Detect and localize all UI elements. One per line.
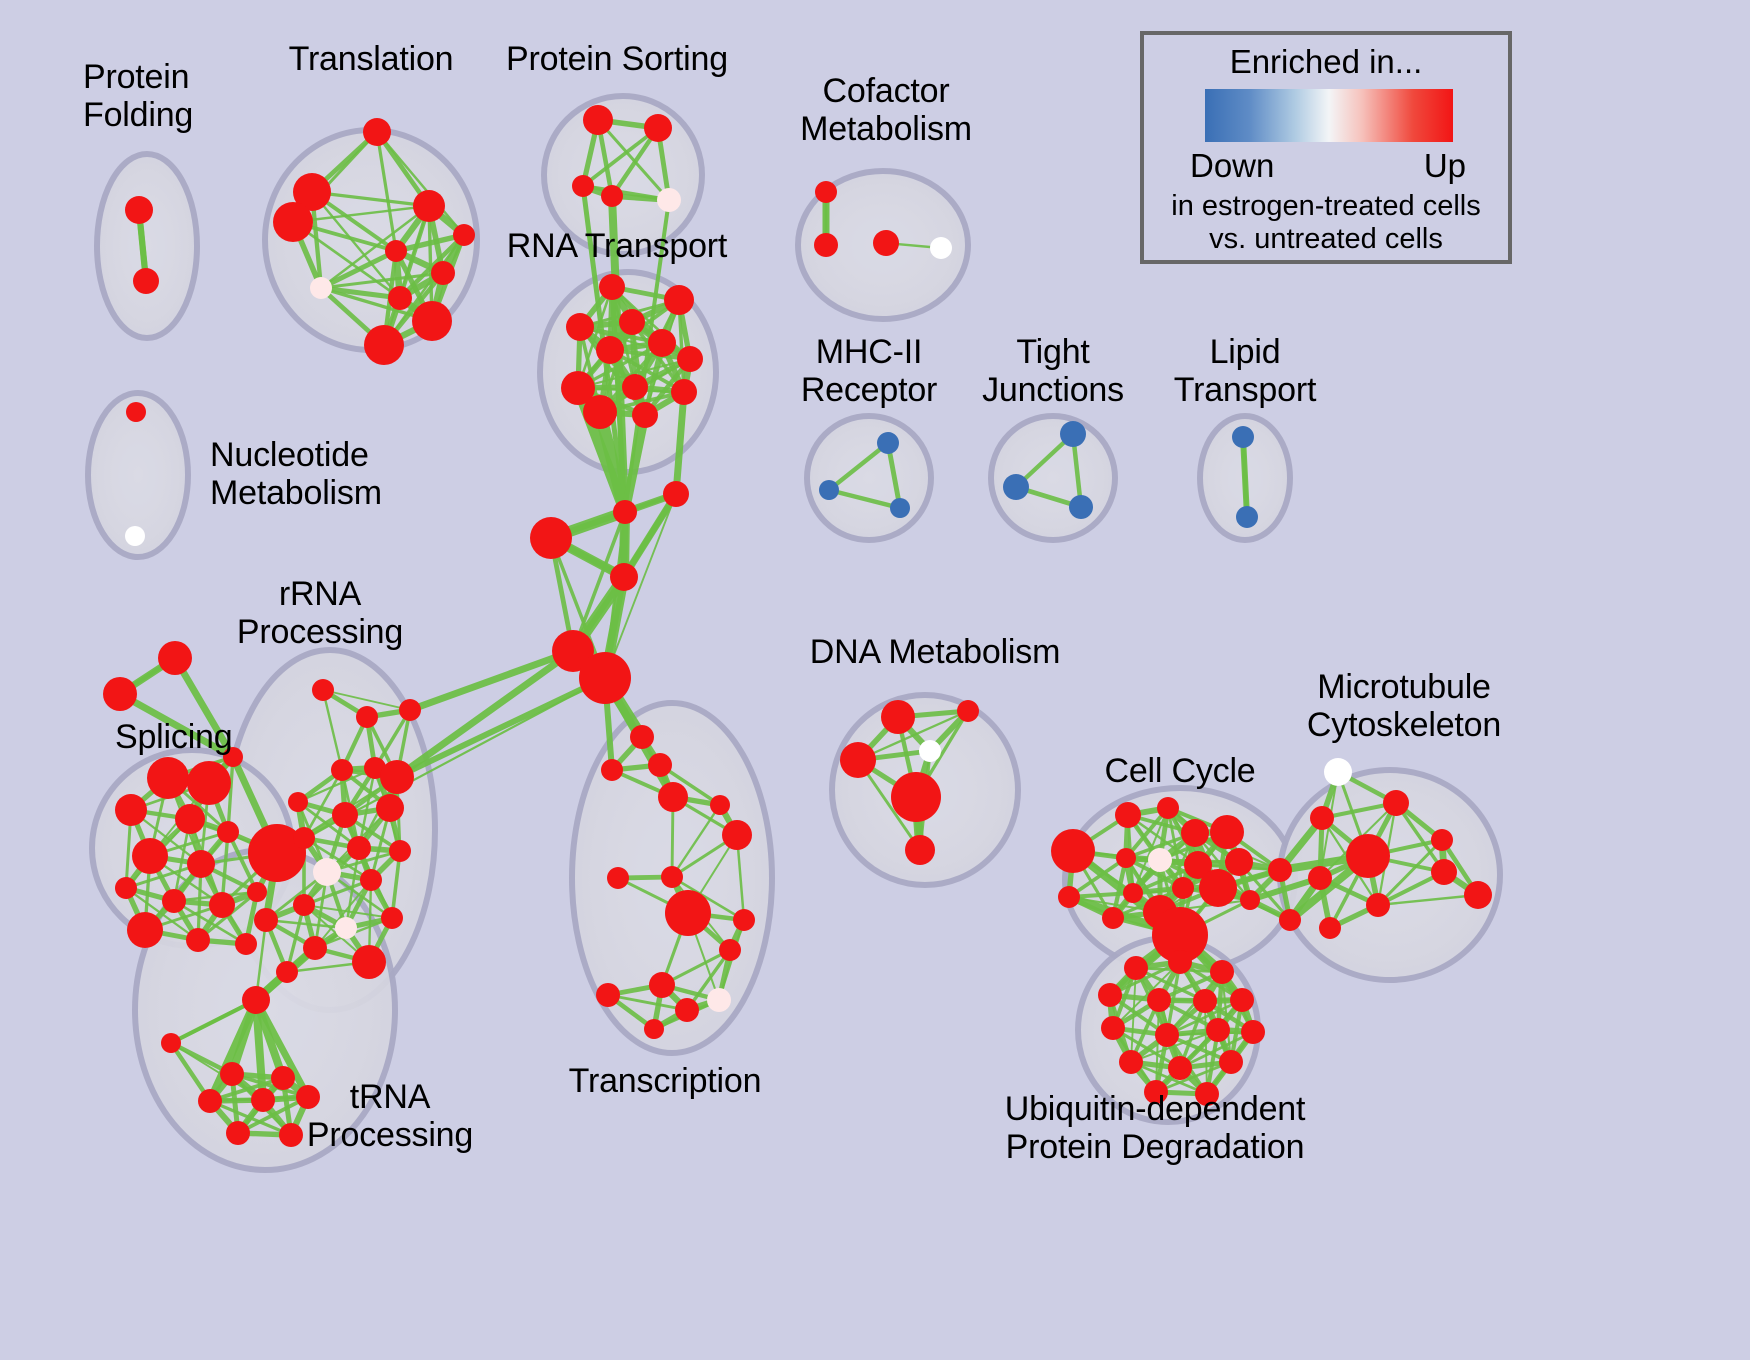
network-node[interactable] — [209, 892, 235, 918]
cluster-label-protein-folding: ProteinFolding — [83, 58, 193, 134]
network-node[interactable] — [158, 641, 192, 675]
legend-subtitle-line-1: in estrogen-treated cells — [1144, 190, 1508, 223]
network-node[interactable] — [677, 346, 703, 372]
network-node[interactable] — [310, 277, 332, 299]
cluster-label-cofactor-metabolism: CofactorMetabolism — [800, 72, 972, 148]
network-node[interactable] — [905, 835, 935, 865]
network-node[interactable] — [644, 1019, 664, 1039]
network-node[interactable] — [217, 821, 239, 843]
network-node[interactable] — [293, 827, 315, 849]
network-node[interactable] — [1157, 797, 1179, 819]
network-node[interactable] — [127, 912, 163, 948]
network-edge — [1243, 437, 1247, 517]
network-node[interactable] — [1058, 886, 1080, 908]
network-node[interactable] — [175, 804, 205, 834]
network-node[interactable] — [103, 677, 137, 711]
network-node[interactable] — [1232, 426, 1254, 448]
network-node[interactable] — [251, 1088, 275, 1112]
network-node[interactable] — [596, 336, 624, 364]
network-node[interactable] — [1148, 848, 1172, 872]
cluster-label-lipid-transport: LipidTransport — [1174, 333, 1316, 409]
network-node[interactable] — [412, 301, 452, 341]
network-node[interactable] — [389, 840, 411, 862]
cluster-label-cell-cycle: Cell Cycle — [1104, 752, 1255, 790]
network-node[interactable] — [1319, 917, 1341, 939]
network-node[interactable] — [115, 794, 147, 826]
network-node[interactable] — [147, 757, 189, 799]
network-node[interactable] — [1168, 1056, 1192, 1080]
network-node[interactable] — [125, 526, 145, 546]
network-node[interactable] — [242, 986, 270, 1014]
network-node[interactable] — [1383, 790, 1409, 816]
network-node[interactable] — [733, 909, 755, 931]
network-node[interactable] — [663, 481, 689, 507]
network-node[interactable] — [1225, 848, 1253, 876]
network-node[interactable] — [1236, 506, 1258, 528]
network-node[interactable] — [607, 867, 629, 889]
network-node[interactable] — [610, 563, 638, 591]
cluster-label-translation: Translation — [289, 40, 454, 78]
network-node[interactable] — [644, 114, 672, 142]
network-node[interactable] — [247, 882, 267, 902]
network-node[interactable] — [613, 500, 637, 524]
network-node[interactable] — [431, 261, 455, 285]
enrichment-map-figure: ProteinFoldingTranslationProtein Sorting… — [0, 0, 1750, 1360]
network-node[interactable] — [347, 836, 371, 860]
network-node[interactable] — [877, 432, 899, 454]
network-node[interactable] — [1431, 859, 1457, 885]
network-node[interactable] — [873, 230, 899, 256]
cluster-label-ubiquitin-degradation: Ubiquitin-dependentProtein Degradation — [1005, 1090, 1306, 1166]
network-node[interactable] — [1147, 988, 1171, 1012]
network-node[interactable] — [675, 998, 699, 1022]
network-node[interactable] — [1181, 819, 1209, 847]
network-node[interactable] — [413, 190, 445, 222]
network-node[interactable] — [919, 740, 941, 762]
network-node[interactable] — [1240, 890, 1260, 910]
network-node[interactable] — [601, 759, 623, 781]
cluster-label-trna-processing: tRNAProcessing — [307, 1078, 473, 1154]
cluster-label-rna-transport: RNA Transport — [507, 227, 727, 265]
network-node[interactable] — [657, 188, 681, 212]
network-node[interactable] — [622, 374, 648, 400]
cluster-label-splicing: Splicing — [115, 718, 232, 756]
network-node[interactable] — [1060, 421, 1086, 447]
cluster-label-rrna-processing: rRNAProcessing — [237, 575, 403, 651]
network-node[interactable] — [115, 877, 137, 899]
network-node[interactable] — [1206, 1018, 1230, 1042]
network-node[interactable] — [1119, 1050, 1143, 1074]
network-node[interactable] — [601, 185, 623, 207]
network-node[interactable] — [363, 118, 391, 146]
legend-title: Enriched in... — [1144, 43, 1508, 81]
network-node[interactable] — [658, 782, 688, 812]
network-node[interactable] — [596, 983, 620, 1007]
network-node[interactable] — [276, 961, 298, 983]
network-node[interactable] — [1193, 989, 1217, 1013]
network-node[interactable] — [161, 1033, 181, 1053]
network-node[interactable] — [579, 652, 631, 704]
network-node[interactable] — [1199, 869, 1237, 907]
network-node[interactable] — [1051, 829, 1095, 873]
network-node[interactable] — [1003, 474, 1029, 500]
network-node[interactable] — [332, 802, 358, 828]
network-node[interactable] — [722, 820, 752, 850]
network-node[interactable] — [132, 838, 168, 874]
network-node[interactable] — [890, 498, 910, 518]
network-node[interactable] — [1219, 1050, 1243, 1074]
network-node[interactable] — [303, 936, 327, 960]
network-node[interactable] — [133, 268, 159, 294]
network-node[interactable] — [1279, 909, 1301, 931]
network-node[interactable] — [352, 945, 386, 979]
cluster-ellipse-mhc-ii-receptor[interactable] — [807, 416, 931, 540]
cluster-label-protein-sorting: Protein Sorting — [506, 40, 728, 78]
network-node[interactable] — [566, 313, 594, 341]
legend-panel: Enriched in... Down Up in estrogen-treat… — [1140, 31, 1512, 264]
network-node[interactable] — [381, 907, 403, 929]
network-node[interactable] — [815, 181, 837, 203]
network-node[interactable] — [288, 792, 308, 812]
network-node[interactable] — [814, 233, 838, 257]
cluster-label-mhc-ii-receptor: MHC-IIReceptor — [801, 333, 937, 409]
network-node[interactable] — [1230, 988, 1254, 1012]
network-node[interactable] — [335, 917, 357, 939]
network-node[interactable] — [360, 869, 382, 891]
network-node[interactable] — [1102, 907, 1124, 929]
cluster-label-microtubule-cytoskeleton: MicrotubuleCytoskeleton — [1307, 668, 1501, 744]
network-node[interactable] — [1116, 848, 1136, 868]
network-node[interactable] — [126, 402, 146, 422]
network-node[interactable] — [380, 760, 414, 794]
network-node[interactable] — [819, 480, 839, 500]
network-node[interactable] — [1069, 495, 1093, 519]
network-node[interactable] — [1172, 877, 1194, 899]
network-node[interactable] — [1241, 1020, 1265, 1044]
network-node[interactable] — [664, 285, 694, 315]
network-node[interactable] — [279, 1123, 303, 1147]
network-node[interactable] — [957, 700, 979, 722]
network-node[interactable] — [1115, 802, 1141, 828]
network-node[interactable] — [719, 939, 741, 961]
network-node[interactable] — [1210, 815, 1244, 849]
network-node[interactable] — [583, 105, 613, 135]
cluster-label-nucleotide-metabolism: NucleotideMetabolism — [210, 436, 382, 512]
legend-subtitle: in estrogen-treated cells vs. untreated … — [1144, 190, 1508, 257]
network-node[interactable] — [1124, 956, 1148, 980]
network-node[interactable] — [599, 274, 625, 300]
network-node[interactable] — [273, 202, 313, 242]
network-node[interactable] — [364, 325, 404, 365]
network-node[interactable] — [293, 894, 315, 916]
network-node[interactable] — [187, 850, 215, 878]
network-node[interactable] — [1308, 866, 1332, 890]
network-node[interactable] — [271, 1066, 295, 1090]
cluster-label-transcription: Transcription — [569, 1062, 762, 1100]
network-node[interactable] — [198, 1089, 222, 1113]
network-node[interactable] — [1168, 950, 1192, 974]
network-node[interactable] — [619, 309, 645, 335]
network-node[interactable] — [661, 866, 683, 888]
network-node[interactable] — [710, 795, 730, 815]
network-node[interactable] — [1268, 858, 1292, 882]
network-node[interactable] — [331, 759, 353, 781]
network-node[interactable] — [891, 772, 941, 822]
network-node[interactable] — [630, 725, 654, 749]
network-node[interactable] — [235, 933, 257, 955]
network-node[interactable] — [840, 742, 876, 778]
network-node[interactable] — [1366, 893, 1390, 917]
network-node[interactable] — [671, 379, 697, 405]
network-node[interactable] — [1210, 960, 1234, 984]
network-node[interactable] — [1346, 834, 1390, 878]
network-node[interactable] — [388, 286, 412, 310]
network-node[interactable] — [572, 175, 594, 197]
cluster-label-tight-junctions: TightJunctions — [982, 333, 1124, 409]
network-node[interactable] — [648, 329, 676, 357]
network-node[interactable] — [313, 858, 341, 886]
network-node[interactable] — [226, 1121, 250, 1145]
network-node[interactable] — [1464, 881, 1492, 909]
network-node[interactable] — [530, 517, 572, 559]
network-node[interactable] — [1098, 983, 1122, 1007]
network-node[interactable] — [707, 988, 731, 1012]
network-node[interactable] — [665, 890, 711, 936]
network-node[interactable] — [220, 1062, 244, 1086]
network-node[interactable] — [385, 240, 407, 262]
network-node[interactable] — [881, 700, 915, 734]
network-node[interactable] — [1310, 806, 1334, 830]
cluster-ellipse-protein-folding[interactable] — [97, 154, 197, 338]
network-node[interactable] — [1431, 829, 1453, 851]
network-node[interactable] — [583, 395, 617, 429]
network-node[interactable] — [254, 908, 278, 932]
network-node[interactable] — [649, 972, 675, 998]
network-node[interactable] — [125, 196, 153, 224]
network-node[interactable] — [930, 237, 952, 259]
network-node[interactable] — [312, 679, 334, 701]
network-node[interactable] — [632, 402, 658, 428]
network-node[interactable] — [162, 889, 186, 913]
network-node[interactable] — [1155, 1023, 1179, 1047]
legend-up-label: Up — [1424, 147, 1466, 185]
network-node[interactable] — [376, 794, 404, 822]
network-node[interactable] — [186, 928, 210, 952]
network-node[interactable] — [187, 761, 231, 805]
network-node[interactable] — [1123, 883, 1143, 903]
legend-down-label: Down — [1190, 147, 1274, 185]
cluster-label-dna-metabolism: DNA Metabolism — [810, 633, 1060, 671]
network-node[interactable] — [356, 706, 378, 728]
legend-color-bar — [1205, 89, 1453, 142]
legend-subtitle-line-2: vs. untreated cells — [1144, 223, 1508, 256]
network-node[interactable] — [1324, 758, 1352, 786]
network-node[interactable] — [453, 224, 475, 246]
network-node[interactable] — [1101, 1016, 1125, 1040]
network-node[interactable] — [399, 699, 421, 721]
network-node[interactable] — [648, 753, 672, 777]
